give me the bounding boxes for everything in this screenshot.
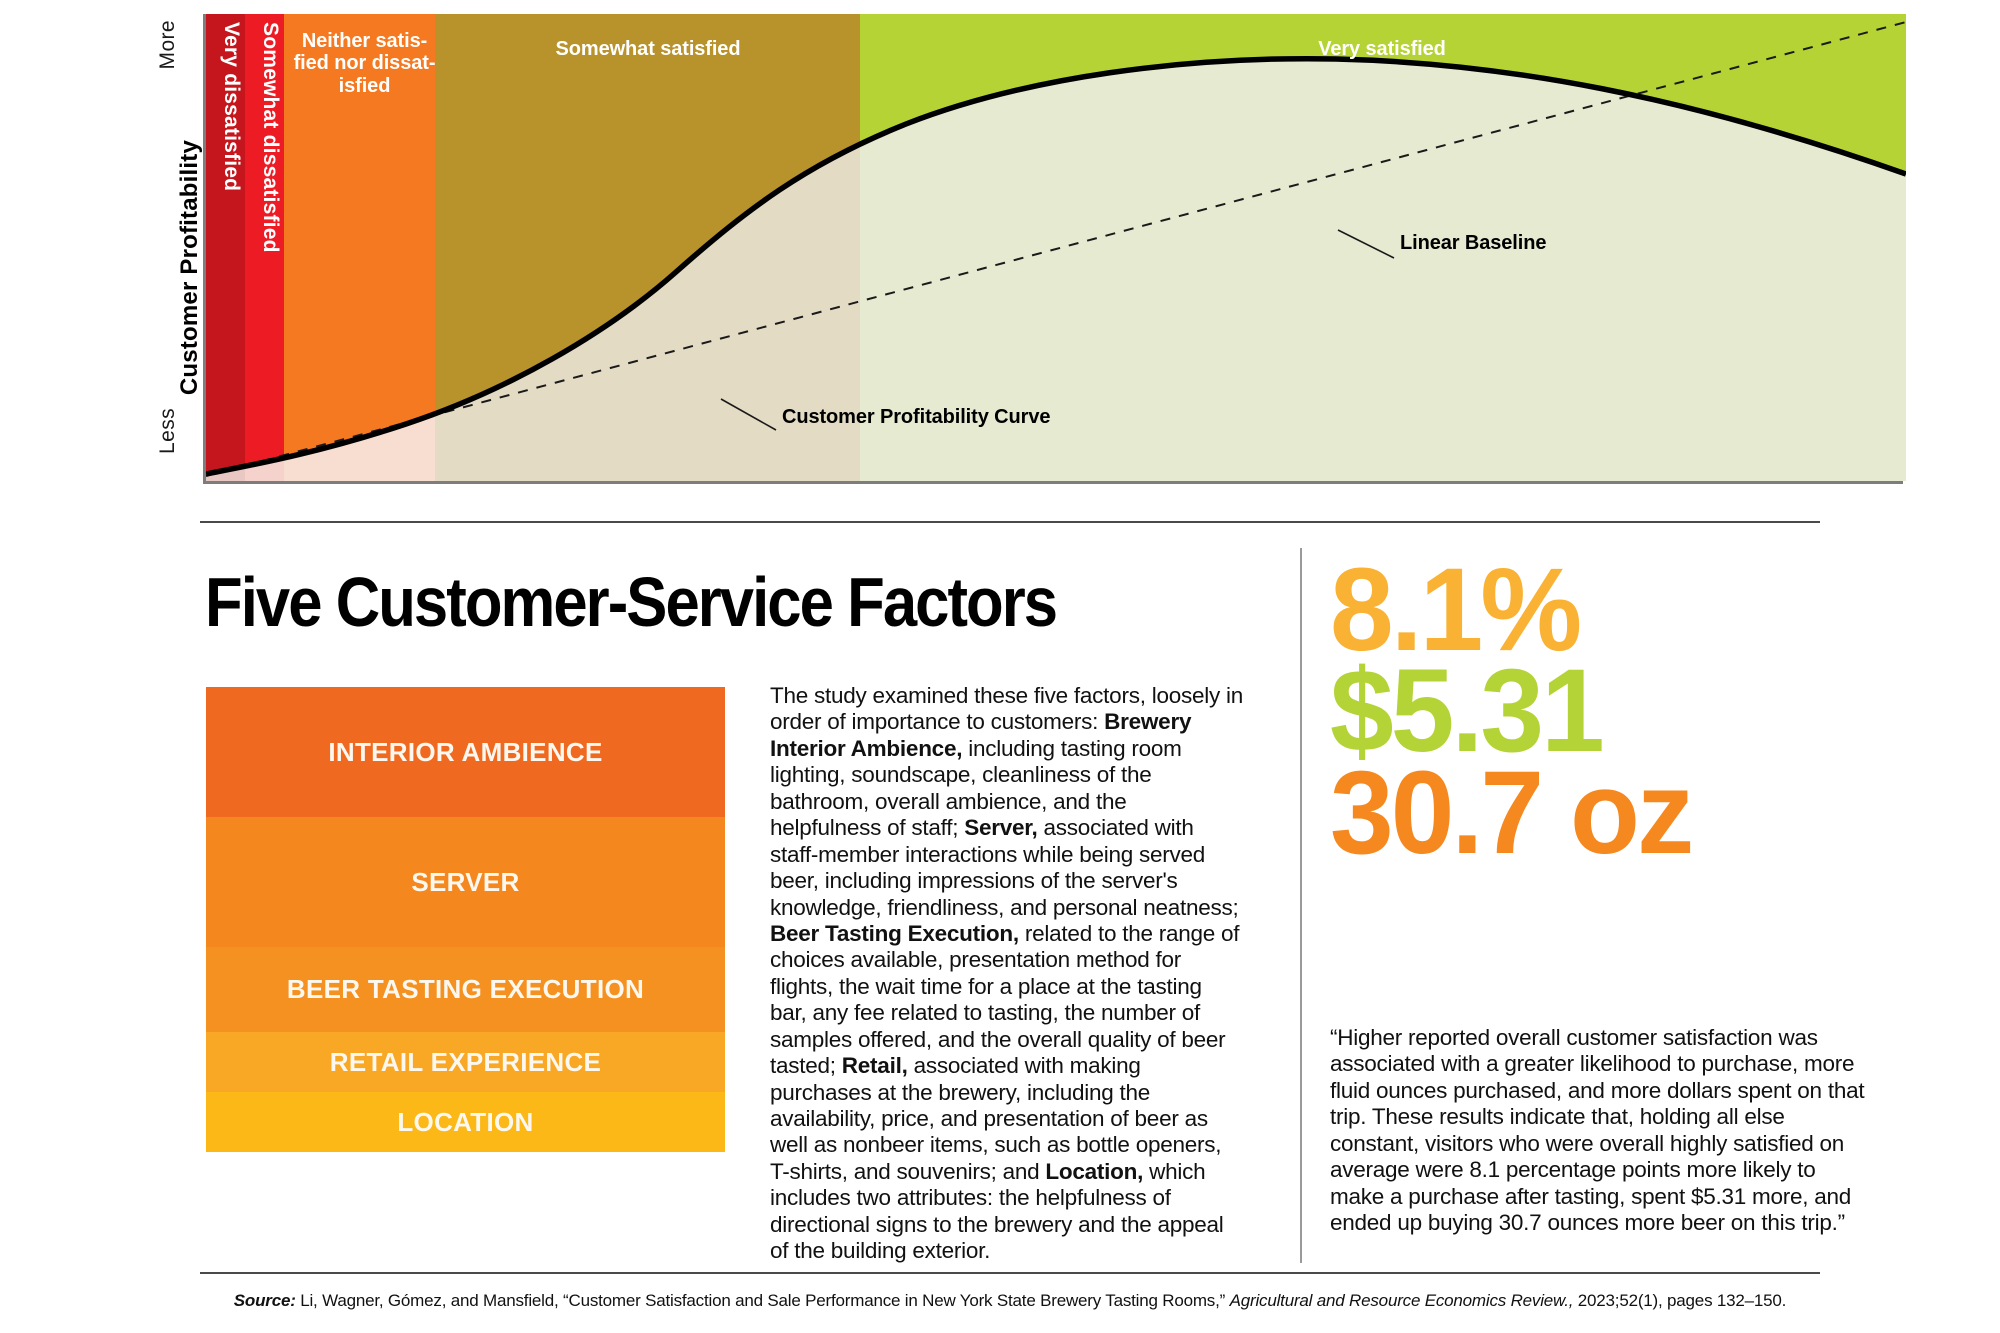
factor-item-beer-tasting-execution[interactable]: BEER TASTING EXECUTION (206, 947, 725, 1032)
annotation-profitability-curve: Customer Profitability Curve (782, 406, 1050, 429)
source-authors: Li, Wagner, Gómez, and Mansfield, “Custo… (296, 1291, 1230, 1310)
chart-svg (206, 14, 1906, 481)
source-line: Source: Li, Wagner, Gómez, and Mansfield… (200, 1291, 1820, 1311)
pull-quote: “Higher reported overall customer satisf… (1330, 1025, 1875, 1237)
band-label-somewhat-dissatisfied: Somewhat dissatisfied (252, 22, 282, 322)
annotation-linear-baseline: Linear Baseline (1400, 232, 1546, 255)
divider-vertical (1300, 548, 1302, 1263)
body-segment-7: Retail, (842, 1053, 908, 1078)
divider-bottom (200, 1272, 1820, 1274)
stat-list: 8.1% $5.31 30.7 oz (1330, 560, 1890, 864)
factor-list: INTERIOR AMBIENCE SERVER BEER TASTING EX… (206, 687, 725, 1152)
source-citation: 2023;52(1), pages 132–150. (1573, 1291, 1786, 1310)
body-segment-9: Location, (1045, 1159, 1143, 1184)
y-axis-min-label: Less (156, 408, 180, 454)
page-title: Five Customer-Service Factors (205, 562, 1056, 642)
stat-ounces-purchased: 30.7 oz (1330, 763, 1873, 864)
source-label: Source: (234, 1291, 296, 1310)
factor-item-retail-experience[interactable]: RETAIL EXPERIENCE (206, 1032, 725, 1092)
factor-item-server[interactable]: SERVER (206, 817, 725, 947)
body-segment-5: Beer Tasting Execution, (770, 921, 1019, 946)
band-label-very-dissatisfied: Very dissatisfied (213, 22, 243, 262)
band-label-neither: Neither satis- fied nor dissat- isfied (292, 30, 437, 97)
source-journal: Agricultural and Resource Economics Revi… (1230, 1291, 1574, 1310)
plot-area (206, 14, 1906, 481)
factor-item-interior-ambience[interactable]: INTERIOR AMBIENCE (206, 687, 725, 817)
band-label-very-satisfied: Very satisfied (862, 38, 1902, 60)
body-copy: The study examined these five factors, l… (770, 683, 1243, 1265)
profitability-chart: More Customer Profitability Less (0, 0, 2000, 512)
body-segment-3: Server, (964, 815, 1037, 840)
band-label-somewhat-satisfied: Somewhat satisfied (438, 38, 858, 60)
y-axis-title: Customer Profitability (176, 140, 204, 395)
y-axis-max-label: More (156, 20, 180, 69)
x-axis-line (203, 481, 1903, 484)
divider-top (200, 521, 1820, 523)
factor-item-location[interactable]: LOCATION (206, 1092, 725, 1152)
